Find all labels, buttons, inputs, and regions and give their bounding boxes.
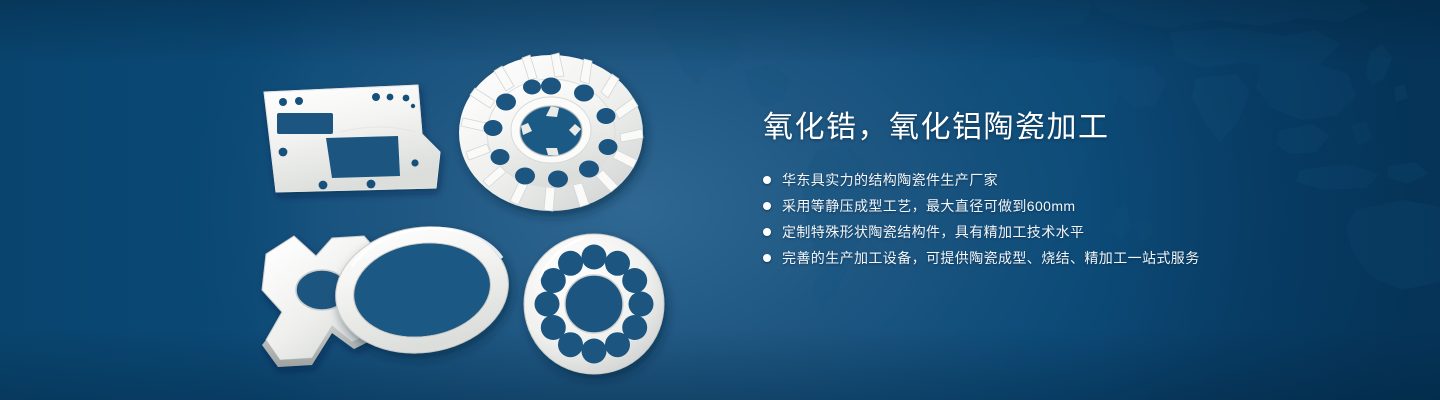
feature-list: 华东具实力的结构陶瓷件生产厂家 采用等静压成型工艺，最大直径可做到600mm 定… — [763, 170, 1323, 268]
list-item-label: 采用等静压成型工艺，最大直径可做到600mm — [782, 196, 1075, 216]
bullet-dot-icon — [763, 176, 771, 184]
hero-banner: 氧化锆，氧化铝陶瓷加工 华东具实力的结构陶瓷件生产厂家 采用等静压成型工艺，最大… — [0, 0, 1440, 400]
bullet-dot-icon — [763, 202, 771, 210]
list-item: 华东具实力的结构陶瓷件生产厂家 — [763, 170, 1323, 190]
list-item: 采用等静压成型工艺，最大直径可做到600mm — [763, 196, 1323, 216]
list-item-label: 华东具实力的结构陶瓷件生产厂家 — [782, 170, 998, 190]
page-title: 氧化锆，氧化铝陶瓷加工 — [763, 108, 1323, 148]
list-item-label: 完善的生产加工设备，可提供陶瓷成型、烧结、精加工一站式服务 — [782, 248, 1200, 268]
ceramic-perforated-disc — [524, 234, 664, 374]
bullet-dot-icon — [763, 254, 771, 262]
bullet-dot-icon — [763, 228, 771, 236]
list-item-label: 定制特殊形状陶瓷结构件，具有精加工技术水平 — [782, 222, 1084, 242]
ceramic-plate-with-cutouts — [264, 85, 440, 192]
ceramic-products-image — [240, 40, 700, 380]
ceramic-impeller-rotor — [459, 53, 643, 211]
list-item: 完善的生产加工设备，可提供陶瓷成型、烧结、精加工一站式服务 — [763, 248, 1323, 268]
list-item: 定制特殊形状陶瓷结构件，具有精加工技术水平 — [763, 222, 1323, 242]
banner-copy: 氧化锆，氧化铝陶瓷加工 华东具实力的结构陶瓷件生产厂家 采用等静压成型工艺，最大… — [763, 108, 1323, 274]
